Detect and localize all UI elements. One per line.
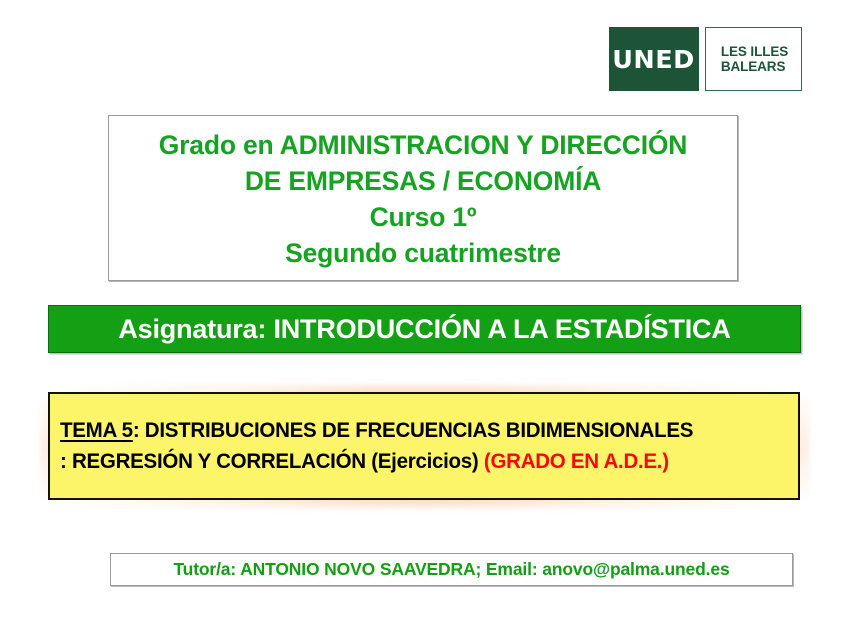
topic-degree-highlight: (GRADO EN A.D.E.): [484, 449, 669, 473]
les-illes-balears-logo: LES ILLES BALEARS: [705, 27, 802, 91]
tutor-info-box: Tutor/a: ANTONIO NOVO SAAVEDRA; Email: a…: [110, 553, 793, 586]
uned-wordmark: UNED: [613, 47, 696, 72]
topic-line-2: : REGRESIÓN Y CORRELACIÓN (Ejercicios) (…: [60, 446, 757, 477]
topic-line-1: TEMA 5: DISTRIBUCIONES DE FRECUENCIAS BI…: [60, 415, 757, 446]
balears-line-2: BALEARS: [721, 59, 788, 74]
degree-line-4-term: Segundo cuatrimestre: [285, 235, 561, 271]
balears-wordmark: LES ILLES BALEARS: [719, 44, 788, 74]
degree-title-box: Grado en ADMINISTRACION Y DIRECCIÓN DE E…: [108, 115, 738, 281]
topic-line-2-text: : REGRESIÓN Y CORRELACIÓN (Ejercicios): [60, 449, 478, 473]
subject-banner-label: Asignatura: INTRODUCCIÓN A LA ESTADÍSTIC…: [118, 314, 730, 345]
institution-logo-strip: UNED LES ILLES BALEARS: [609, 27, 802, 91]
topic-number-label: TEMA 5: [60, 418, 133, 442]
uned-logo: UNED: [609, 27, 699, 91]
subject-banner: Asignatura: INTRODUCCIÓN A LA ESTADÍSTIC…: [48, 305, 801, 353]
degree-line-3-course: Curso 1º: [370, 199, 477, 235]
degree-line-1: Grado en ADMINISTRACION Y DIRECCIÓN: [159, 127, 687, 163]
balears-line-1: LES ILLES: [721, 44, 788, 59]
topic-line-1-text: : DISTRIBUCIONES DE FRECUENCIAS BIDIMENS…: [133, 418, 693, 442]
degree-line-2: DE EMPRESAS / ECONOMÍA: [245, 163, 601, 199]
topic-box: TEMA 5: DISTRIBUCIONES DE FRECUENCIAS BI…: [48, 392, 800, 500]
tutor-info-text: Tutor/a: ANTONIO NOVO SAAVEDRA; Email: a…: [173, 559, 729, 580]
